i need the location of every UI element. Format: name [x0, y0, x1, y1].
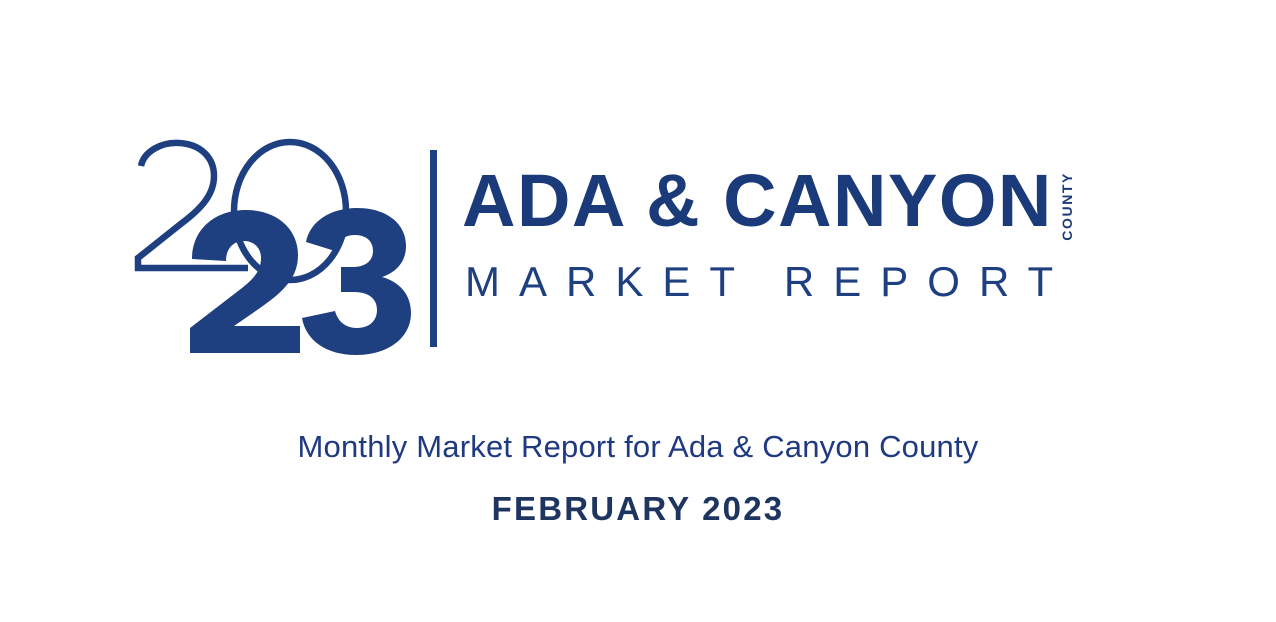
report-cover-page: ADA & CANYON COUNTY MARKET REPORT Monthl…	[0, 0, 1276, 622]
cover-caption-block: Monthly Market Report for Ada & Canyon C…	[0, 428, 1276, 529]
wordmark-title: ADA & CANYON	[462, 166, 1053, 236]
wordmark-county-label: COUNTY	[1060, 172, 1074, 241]
wordmark-primary-row: ADA & CANYON COUNTY	[462, 166, 1074, 241]
year-2023-logo-mark	[130, 138, 415, 353]
brand-logo-lockup: ADA & CANYON COUNTY MARKET REPORT	[130, 138, 1130, 353]
wordmark-subtitle: MARKET REPORT	[465, 258, 1072, 306]
logo-divider-rule	[430, 150, 437, 347]
report-date: FEBRUARY 2023	[0, 489, 1276, 529]
report-subtitle: Monthly Market Report for Ada & Canyon C…	[0, 428, 1276, 465]
